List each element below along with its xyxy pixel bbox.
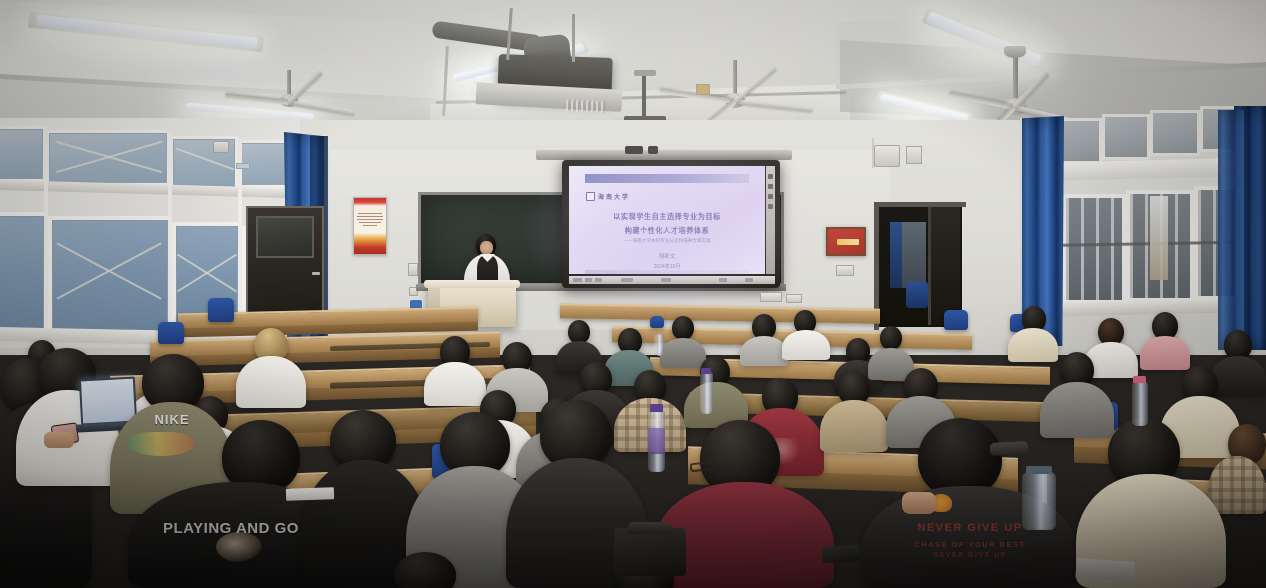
- wall-clock-plate: [906, 146, 922, 164]
- wall-poster-core-values: [353, 197, 387, 255]
- student-body-m9: [1208, 456, 1266, 514]
- ceiling-junction-box: [696, 84, 710, 95]
- bag-strap: [628, 522, 672, 534]
- screen-mount-bar: [536, 150, 792, 160]
- projection-screen-frame: 海南大学 以实现学生自主选择专业为目标 构建个性化人才培养体系 ——海南大学本科…: [562, 160, 780, 288]
- water-bottle-3[interactable]: [1132, 382, 1148, 426]
- student-body-b14: [424, 362, 486, 406]
- bottle-cap-2: [701, 368, 711, 374]
- taskbar-item[interactable]: [621, 278, 633, 282]
- hand-holding-phone: [44, 432, 74, 448]
- projector-ceiling-plate: [634, 70, 656, 76]
- fan-rod-2: [733, 60, 737, 96]
- chair-empty-4[interactable]: [944, 310, 968, 330]
- bottle-cap-1: [650, 404, 663, 412]
- slide-footer-band: [585, 270, 749, 274]
- presenter-face: [480, 241, 493, 255]
- wall-outlet-left: [408, 263, 418, 276]
- poster-text-line: [358, 213, 382, 215]
- slide-header-band: [585, 174, 749, 183]
- slide-title-line-1: 以实现学生自主选择专业为目标: [569, 212, 765, 222]
- slogan-shirt-line-2: CHASE OF YOUR BEST: [870, 540, 1070, 549]
- nike-shirt-text: NIKE: [110, 412, 234, 427]
- doorway-interior-chair: [906, 282, 928, 308]
- poster-text-line: [357, 216, 383, 218]
- chair-empty-3[interactable]: [650, 316, 664, 328]
- student-body-b3: [660, 338, 706, 368]
- fan-rod-1: [287, 70, 291, 96]
- doorway-interior-curtain: [890, 222, 902, 288]
- phone-on-desk[interactable]: [821, 545, 860, 564]
- window-mullion-1: [44, 126, 48, 338]
- student-head-b7: [880, 326, 902, 350]
- pencil-case[interactable]: [990, 441, 1029, 456]
- student-body-b4: [740, 336, 788, 366]
- door-right-leaf[interactable]: [928, 207, 960, 325]
- slide-title-line-2: 构建个性化人才培养体系: [569, 226, 765, 236]
- door-left-window: [256, 216, 314, 258]
- chair-empty-1[interactable]: [208, 298, 234, 322]
- chair-empty-2[interactable]: [158, 322, 184, 344]
- taskbar-item[interactable]: [585, 278, 592, 282]
- water-bottle-2[interactable]: [700, 372, 713, 414]
- hand-with-snack: [902, 492, 936, 514]
- backpack-on-desk[interactable]: [614, 528, 686, 576]
- bottle-label-1: [648, 428, 665, 454]
- slide-presenter-name: 胡新文: [569, 252, 765, 260]
- door-frame-right: [874, 202, 966, 207]
- window-upper-right-3: [1150, 110, 1200, 156]
- student-body-b10: [1140, 336, 1190, 370]
- window-upper-left-1: [0, 126, 46, 182]
- taskbar-item[interactable]: [745, 278, 753, 282]
- university-logo-icon: [586, 192, 595, 201]
- screen-side-btn-3[interactable]: [768, 194, 773, 199]
- taskbar-item[interactable]: [719, 278, 727, 282]
- wall-sign-text: [837, 239, 859, 245]
- fan-canopy-3: [1004, 46, 1026, 58]
- taskbar-item[interactable]: [661, 278, 671, 282]
- poster-text-line: [363, 225, 377, 227]
- daylight-gap: [1150, 196, 1168, 280]
- smartboard-taskbar[interactable]: [569, 276, 775, 284]
- water-bottle-4[interactable]: [1022, 472, 1056, 530]
- water-bottle-5[interactable]: [654, 334, 664, 356]
- screen-side-btn-1[interactable]: [768, 174, 773, 179]
- wall-notice-left: [236, 163, 250, 169]
- wall-switch-right: [836, 265, 854, 276]
- poster-text-line: [359, 222, 381, 224]
- lectern-top: [424, 280, 520, 288]
- window-mullion-2: [168, 132, 172, 338]
- screen-bar-bracket-1: [625, 146, 643, 154]
- taskbar-item[interactable]: [595, 278, 602, 282]
- nike-shirt-graphic: [128, 432, 194, 456]
- slide-date: 2024年10月: [569, 263, 765, 270]
- speaker-box-left: [213, 141, 229, 153]
- ac-vent-grille: [566, 99, 607, 113]
- student-body-b5: [782, 330, 830, 360]
- notebook-left[interactable]: [286, 487, 334, 501]
- window-lower-left-2: [48, 216, 172, 341]
- student-body-b13: [236, 356, 306, 408]
- student-body-m7: [1040, 382, 1114, 438]
- screen-side-btn-2[interactable]: [768, 184, 773, 189]
- bottle-cap-3: [1133, 376, 1146, 383]
- playing-shirt-graphic: [216, 532, 262, 562]
- student-head-b3: [672, 316, 694, 340]
- curtain-right-outer: [1218, 110, 1244, 350]
- wall-sign-right: [826, 227, 866, 256]
- university-name: 海南大学: [598, 192, 630, 201]
- window-lower-left-1: [0, 212, 48, 337]
- door-left-handle[interactable]: [312, 272, 320, 275]
- wall-panel-right-1: [872, 138, 874, 168]
- slide-subtitle: ——海南大学本科专业分流和培养改革实践: [569, 238, 765, 244]
- window-upper-right-2: [1102, 114, 1150, 160]
- fan-rod-3: [1013, 54, 1018, 102]
- paper-on-floor: [1075, 558, 1134, 582]
- projected-slide: 海南大学 以实现学生自主选择专业为目标 构建个性化人才培养体系 ——海南大学本科…: [569, 166, 765, 274]
- window-upper-right-1: [1058, 118, 1102, 164]
- screen-bar-bracket-2: [648, 146, 658, 154]
- window-security-bars-1: [1066, 198, 1122, 300]
- bottle-cap-4: [1026, 466, 1052, 474]
- poster-text-line: [357, 219, 383, 221]
- slide-logo-group: 海南大学: [586, 190, 668, 202]
- wall-socket-under-screen: [760, 292, 782, 302]
- screen-side-btn-4[interactable]: [768, 204, 773, 209]
- wall-speaker: [874, 145, 900, 167]
- projector-mount-arm: [642, 76, 646, 120]
- student-body-m5: [820, 400, 888, 452]
- screen-side-strip[interactable]: [766, 166, 775, 274]
- wall-socket-2: [786, 294, 802, 303]
- student-body-b8: [1008, 328, 1058, 362]
- student-body-b11: [1210, 356, 1266, 396]
- ac-hanger-rod-2: [572, 14, 575, 62]
- lecture-hall-photo: 海南大学 以实现学生自主选择专业为目标 构建个性化人才培养体系 ——海南大学本科…: [0, 0, 1266, 588]
- taskbar-item[interactable]: [573, 278, 582, 282]
- slogan-shirt-line-3: NEVER GIVE UP: [870, 552, 1070, 559]
